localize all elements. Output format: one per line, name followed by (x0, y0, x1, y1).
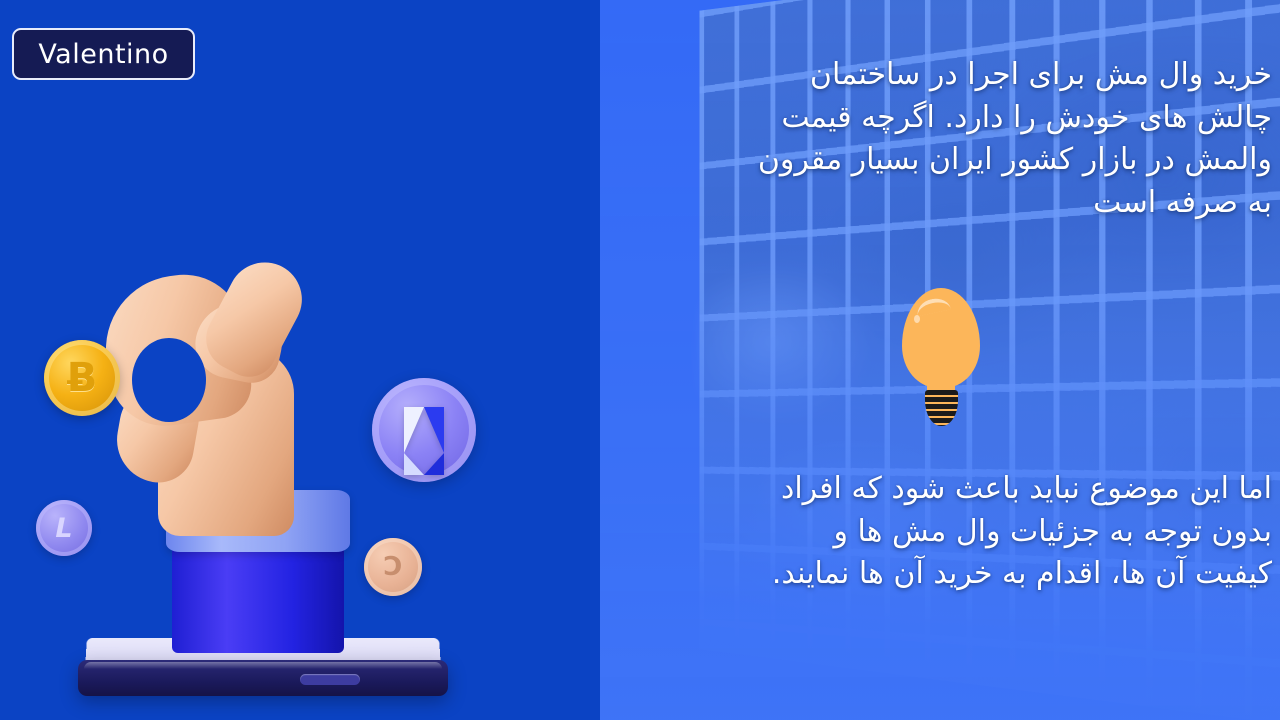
lightbulb-glass (902, 288, 980, 388)
dogecoin-symbol: Ɔ (383, 552, 402, 582)
paragraph-bottom-line-1: اما این موضوع نباید باعث شود که افراد (612, 468, 1272, 511)
right-panel: خرید وال مش برای اجرا در ساختمان چالش ها… (600, 0, 1280, 720)
paragraph-top-line-2: چالش های خودش را دارد. اگرچه قیمت (612, 97, 1272, 140)
litecoin-symbol: L (55, 513, 72, 544)
crypto-hand-illustration: Ƀ L Ɔ (20, 250, 480, 720)
bitcoin-symbol: Ƀ (67, 355, 98, 401)
brand-logo-badge[interactable]: Valentino (12, 28, 195, 80)
hand-graphic (100, 260, 370, 540)
lightbulb-icon (902, 288, 982, 428)
phone-body (78, 660, 448, 696)
lightbulb-highlight-dot (914, 315, 920, 323)
phone-side-button-icon (300, 674, 360, 685)
paragraph-top-line-3: والمش در بازار کشور ایران بسیار مقرون (612, 139, 1272, 182)
brand-logo-text: Valentino (38, 41, 168, 68)
paragraph-bottom-line-2: بدون توجه به جزئیات وال مش ها و (612, 511, 1272, 554)
hand-pinch-gap (132, 338, 206, 422)
slide-canvas: Valentino (0, 0, 1280, 720)
paragraph-bottom: اما این موضوع نباید باعث شود که افراد بد… (612, 468, 1272, 596)
paragraph-top-line-1: خرید وال مش برای اجرا در ساختمان (612, 54, 1272, 97)
bitcoin-coin: Ƀ (44, 340, 120, 416)
ethereum-diamond-icon (404, 407, 444, 453)
lightbulb-highlight (915, 296, 951, 317)
dogecoin-coin: Ɔ (364, 538, 422, 596)
paragraph-top-line-4: به صرفه است (612, 182, 1272, 225)
paragraph-top: خرید وال مش برای اجرا در ساختمان چالش ها… (612, 54, 1272, 224)
shirt-sleeve (172, 535, 344, 653)
litecoin-coin: L (36, 500, 92, 556)
left-panel: Valentino (0, 0, 600, 720)
paragraph-bottom-line-3: کیفیت آن ها، اقدام به خرید آن ها نمایند. (612, 553, 1272, 596)
ethereum-coin (372, 378, 476, 482)
lightbulb-screw-base (925, 390, 958, 426)
